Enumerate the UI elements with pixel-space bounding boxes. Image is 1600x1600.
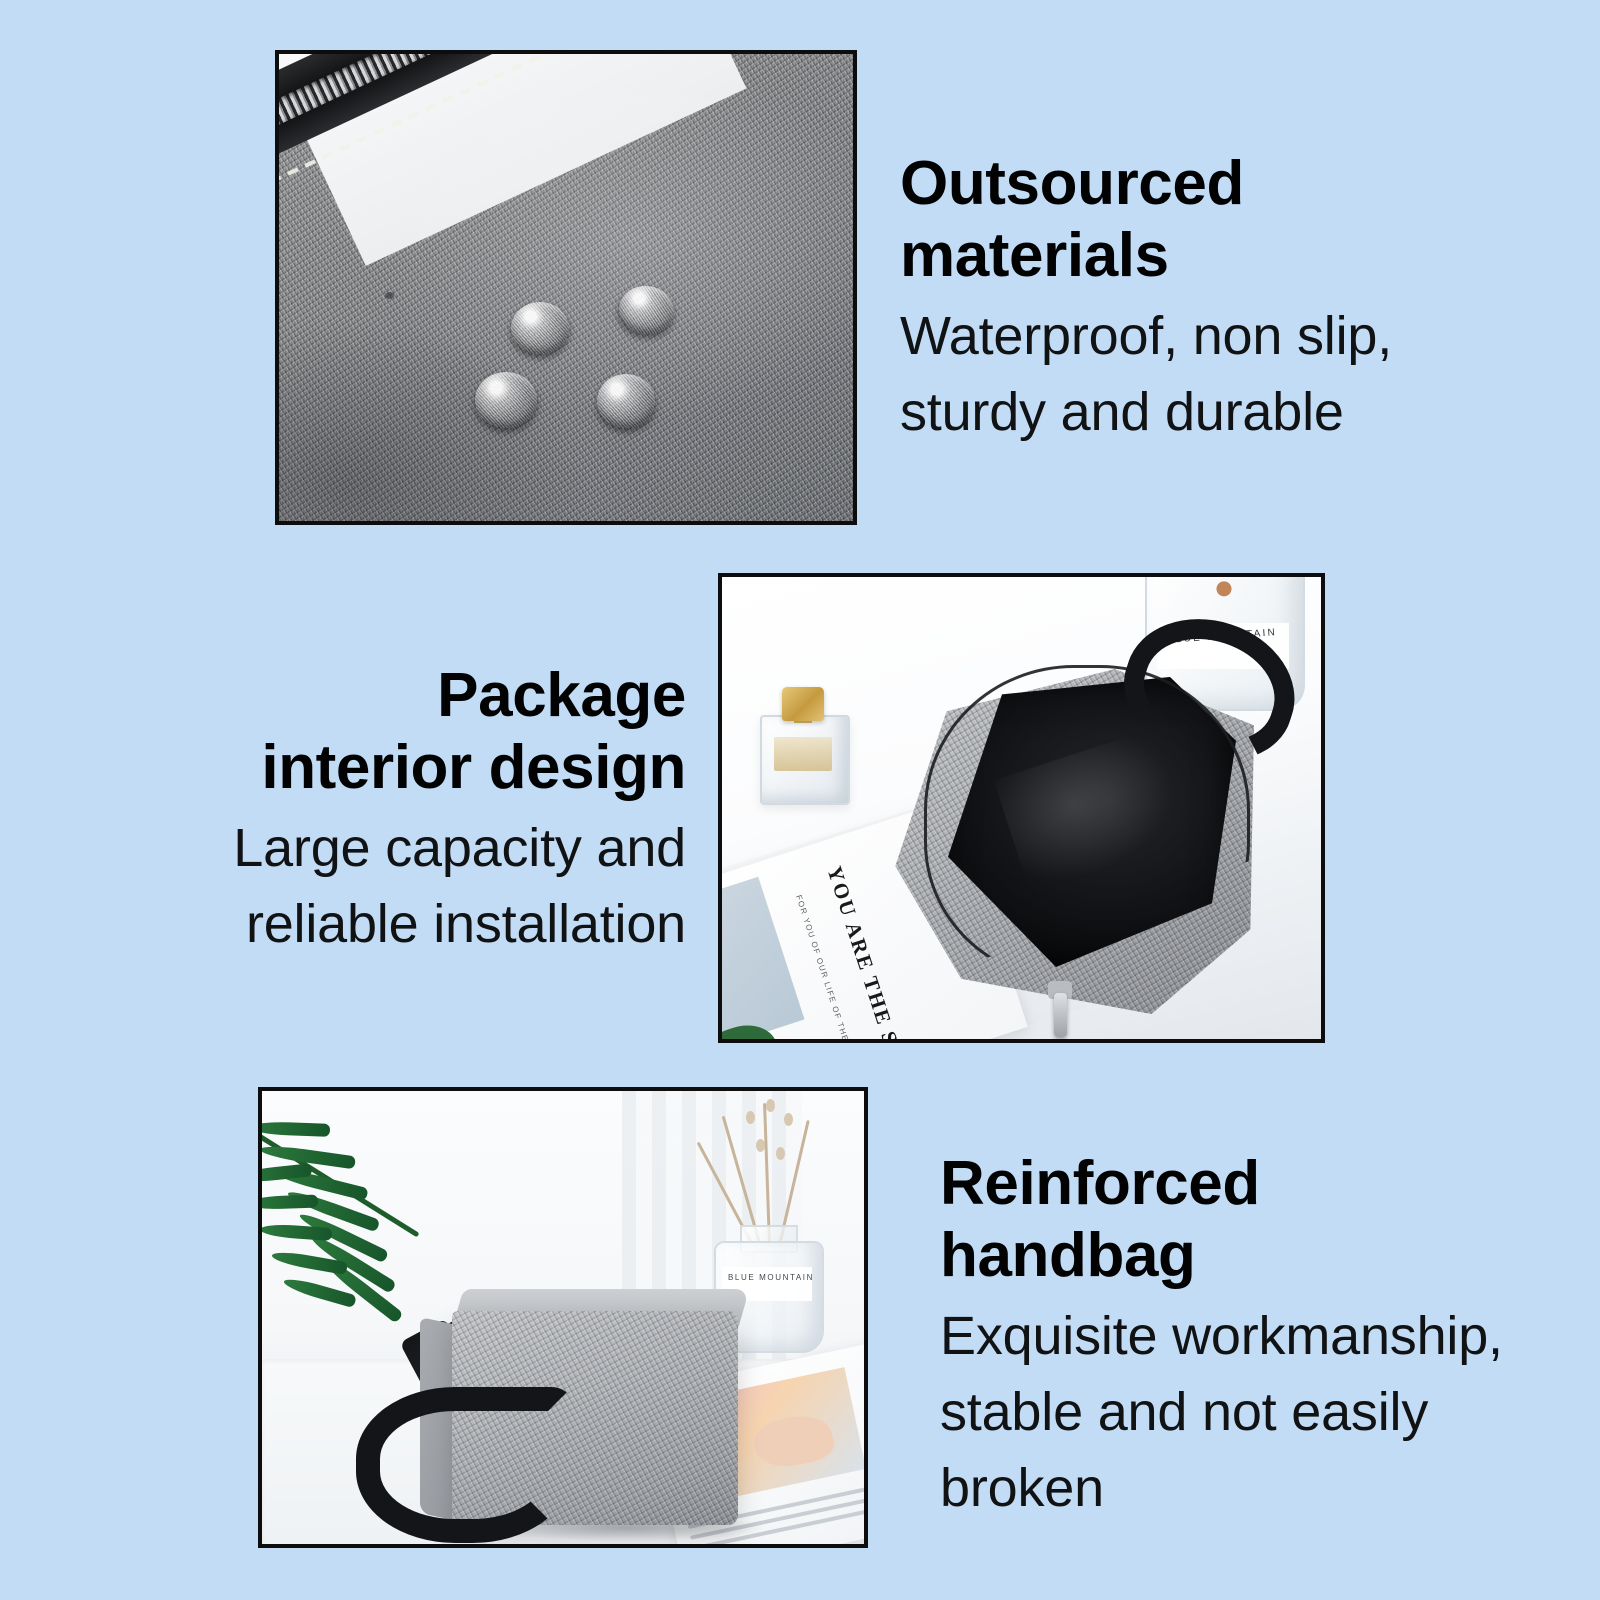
grey-toiletry-bag-open bbox=[888, 621, 1260, 1021]
feature-description-outsourced-materials: Waterproof, non slip,sturdy and durable bbox=[900, 298, 1440, 450]
water-droplet bbox=[511, 302, 569, 354]
fabric-lighting-sheen bbox=[279, 54, 853, 521]
water-droplet bbox=[597, 374, 655, 428]
fabric-waterproof-closeup-photo bbox=[279, 54, 853, 521]
water-droplet bbox=[475, 372, 537, 428]
dried-flower-bud bbox=[784, 1113, 793, 1126]
dried-flower-bud bbox=[766, 1099, 775, 1112]
feature-description-package-interior-design: Large capacity andreliable installation bbox=[176, 810, 686, 962]
black-handle bbox=[356, 1387, 572, 1543]
dried-flower-bud bbox=[746, 1111, 755, 1124]
feature-image-reinforced-handbag: BLUE MOUNTAIN bbox=[258, 1087, 868, 1548]
feature-image-package-interior-design: YOU ARE THE SUN FOR YOU OF OUR LIFE OF T… bbox=[718, 573, 1325, 1043]
feature-title-outsourced-materials: Outsourcedmaterials bbox=[900, 148, 1440, 292]
feature-title-reinforced-handbag: Reinforcedhandbag bbox=[940, 1148, 1520, 1292]
perfume-bottle bbox=[760, 685, 846, 801]
dried-flower-bud bbox=[776, 1147, 785, 1160]
zipper-pull bbox=[1054, 993, 1067, 1037]
glass-jar-decoration bbox=[1197, 577, 1251, 619]
feature-description-reinforced-handbag: Exquisite workmanship,stable and not eas… bbox=[940, 1298, 1520, 1526]
perfume-cap bbox=[782, 687, 824, 721]
magazine-photo bbox=[722, 877, 805, 1039]
closed-bag-with-handle-photo: BLUE MOUNTAIN bbox=[262, 1091, 864, 1544]
palm-frond bbox=[262, 1195, 318, 1210]
vase-label-text: BLUE MOUNTAIN bbox=[728, 1273, 814, 1282]
feature-text-package-interior-design: Packageinterior design Large capacity an… bbox=[176, 660, 686, 962]
infographic-stage: Outsourcedmaterials Waterproof, non slip… bbox=[0, 0, 1600, 1600]
palm-frond bbox=[262, 1121, 330, 1137]
perfume-liquid bbox=[774, 737, 832, 771]
grey-toiletry-bag-closed bbox=[390, 1279, 740, 1531]
fabric-speck bbox=[385, 292, 394, 299]
feature-text-reinforced-handbag: Reinforcedhandbag Exquisite workmanship,… bbox=[940, 1148, 1520, 1526]
dried-flower-bud bbox=[756, 1139, 765, 1152]
open-bag-interior-photo: YOU ARE THE SUN FOR YOU OF OUR LIFE OF T… bbox=[722, 577, 1321, 1039]
feature-image-outsourced-materials bbox=[275, 50, 857, 525]
feature-text-outsourced-materials: Outsourcedmaterials Waterproof, non slip… bbox=[900, 148, 1440, 450]
feature-title-package-interior-design: Packageinterior design bbox=[176, 660, 686, 804]
